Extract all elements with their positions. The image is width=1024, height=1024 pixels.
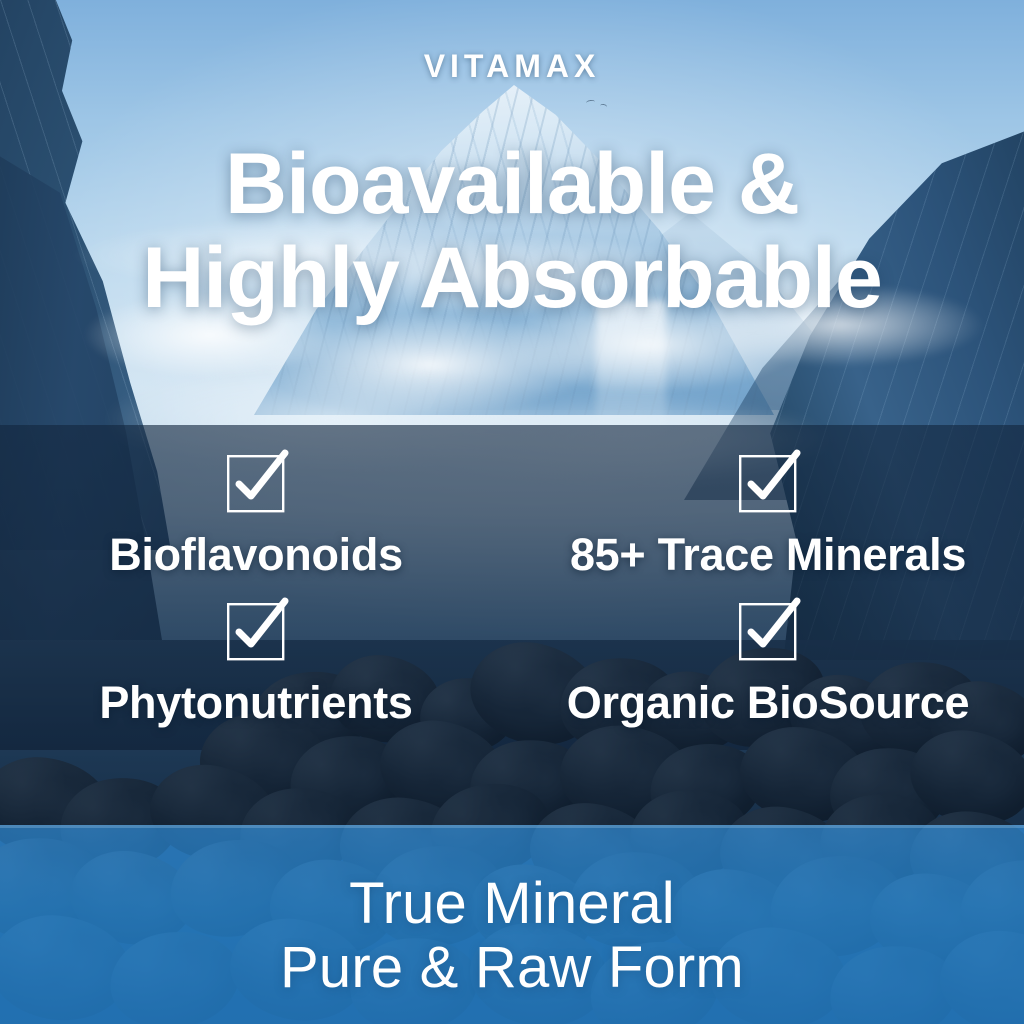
feature-label: 85+ Trace Minerals xyxy=(570,529,966,581)
feature-item-organic-biosource: Organic BioSource xyxy=(512,603,1024,729)
feature-item-bioflavonoids: Bioflavonoids xyxy=(0,455,512,581)
headline: Bioavailable & Highly Absorbable xyxy=(0,138,1024,325)
footer-line-2: Pure & Raw Form xyxy=(0,936,1024,1000)
feature-item-trace-minerals: 85+ Trace Minerals xyxy=(512,455,1024,581)
headline-line-1: Bioavailable & xyxy=(225,136,799,232)
feature-row-1: Bioflavonoids 85+ Trace Minerals xyxy=(0,455,1024,581)
footer-line-1: True Mineral xyxy=(349,871,675,936)
feature-label: Bioflavonoids xyxy=(109,529,403,581)
checkbox-checked-icon xyxy=(739,603,797,661)
feature-label: Organic BioSource xyxy=(567,677,970,729)
footer-tagline: True Mineral Pure & Raw Form xyxy=(0,872,1024,1000)
checkbox-checked-icon xyxy=(739,455,797,513)
feature-label: Phytonutrients xyxy=(99,677,412,729)
brand-name: VITAMAX xyxy=(0,48,1024,85)
feature-list: Bioflavonoids 85+ Trace Minerals xyxy=(0,455,1024,729)
checkbox-checked-icon xyxy=(227,455,285,513)
headline-line-2: Highly Absorbable xyxy=(0,232,1024,326)
feature-row-2: Phytonutrients Organic BioSource xyxy=(0,603,1024,729)
feature-item-phytonutrients: Phytonutrients xyxy=(0,603,512,729)
poster-content: VITAMAX Bioavailable & Highly Absorbable… xyxy=(0,0,1024,1024)
checkbox-checked-icon xyxy=(227,603,285,661)
promo-poster: VITAMAX Bioavailable & Highly Absorbable… xyxy=(0,0,1024,1024)
